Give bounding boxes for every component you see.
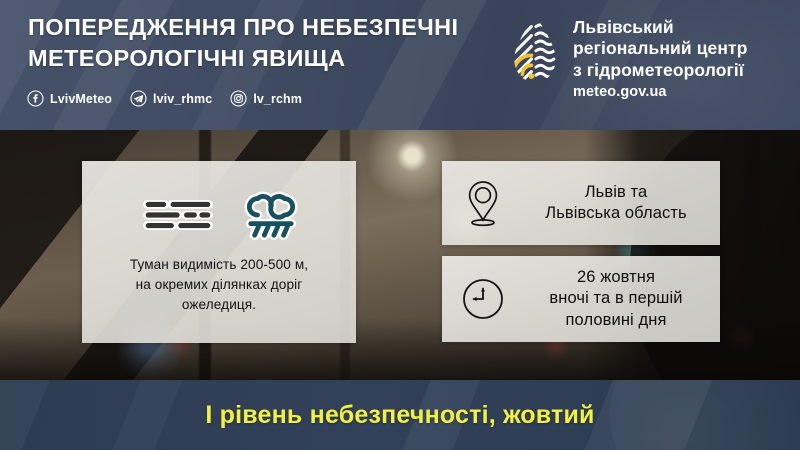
instagram-icon: [230, 90, 247, 107]
date-card: 26 жовтня вночі та в першій половині дня: [442, 256, 720, 342]
freezing-rain-ice-icon: [243, 189, 299, 241]
clock-icon: [461, 277, 505, 321]
warning-text-line-2: на окремих ділянках доріг: [130, 275, 308, 295]
facebook-handle: LvivMeteo: [50, 92, 112, 106]
warning-text-line-1: Туман видимість 200-500 м,: [130, 255, 308, 275]
region-text-line-2: Львівська область: [524, 203, 708, 224]
date-text-line-3: половині дня: [524, 310, 708, 331]
brand-line-1: Львівський: [573, 17, 748, 38]
danger-level-banner: І рівень небезпечності, жовтий: [0, 380, 800, 450]
date-text-line-1: 26 жовтня: [524, 267, 708, 288]
date-text-line-2: вночі та в першій: [524, 288, 708, 309]
region-icon-wrap: [442, 179, 524, 227]
page-title-line-1: ПОПЕРЕДЖЕННЯ ПРО НЕБЕЗПЕЧНІ: [28, 14, 458, 40]
telegram-icon: [130, 90, 147, 107]
warning-description: Туман видимість 200-500 м, на окремих ді…: [122, 255, 316, 314]
weather-warning-infographic: ПОПЕРЕДЖЕННЯ ПРО НЕБЕЗПЕЧНІ МЕТЕОРОЛОГІЧ…: [0, 0, 800, 450]
brand-line-3: з гідрометеорології: [573, 60, 748, 81]
telegram-handle: lviv_rhmc: [153, 92, 212, 106]
region-text-line-1: Львів та: [524, 182, 708, 203]
instagram-handle: lv_rchm: [253, 92, 302, 106]
header-banner: ПОПЕРЕДЖЕННЯ ПРО НЕБЕЗПЕЧНІ МЕТЕОРОЛОГІЧ…: [0, 0, 800, 130]
social-link-facebook[interactable]: LvivMeteo: [27, 90, 112, 107]
social-link-telegram[interactable]: lviv_rhmc: [130, 90, 212, 107]
warning-card: Туман видимість 200-500 м, на окремих ді…: [82, 161, 356, 343]
fog-icon: [139, 192, 217, 238]
region-card: Львів та Львівська область: [442, 161, 720, 245]
warning-text-line-3: ожеледиця.: [130, 295, 308, 315]
brand-block[interactable]: Львівський регіональний центр з гідромет…: [508, 14, 748, 100]
danger-level-text: І рівень небезпечності, жовтий: [205, 401, 594, 430]
warning-icons: [139, 189, 299, 241]
brand-wordmark: Львівський регіональний центр з гідромет…: [573, 14, 748, 100]
date-text: 26 жовтня вночі та в першій половині дня: [524, 267, 720, 331]
map-pin-icon: [465, 179, 501, 227]
social-link-instagram[interactable]: lv_rchm: [230, 90, 302, 107]
page-title: ПОПЕРЕДЖЕННЯ ПРО НЕБЕЗПЕЧНІ МЕТЕОРОЛОГІЧ…: [28, 12, 498, 75]
facebook-icon: [27, 90, 44, 107]
date-icon-wrap: [442, 277, 524, 321]
water-drop-logo-icon: [508, 14, 562, 86]
brand-line-2: регіональний центр: [573, 38, 748, 59]
brand-website-url[interactable]: meteo.gov.ua: [573, 84, 748, 100]
social-links: LvivMeteo lviv_rhmc lv_rchm: [27, 90, 302, 107]
region-text: Львів та Львівська область: [524, 182, 720, 225]
page-title-line-2: МЕТЕОРОЛОГІЧНІ ЯВИЩА: [28, 43, 498, 74]
